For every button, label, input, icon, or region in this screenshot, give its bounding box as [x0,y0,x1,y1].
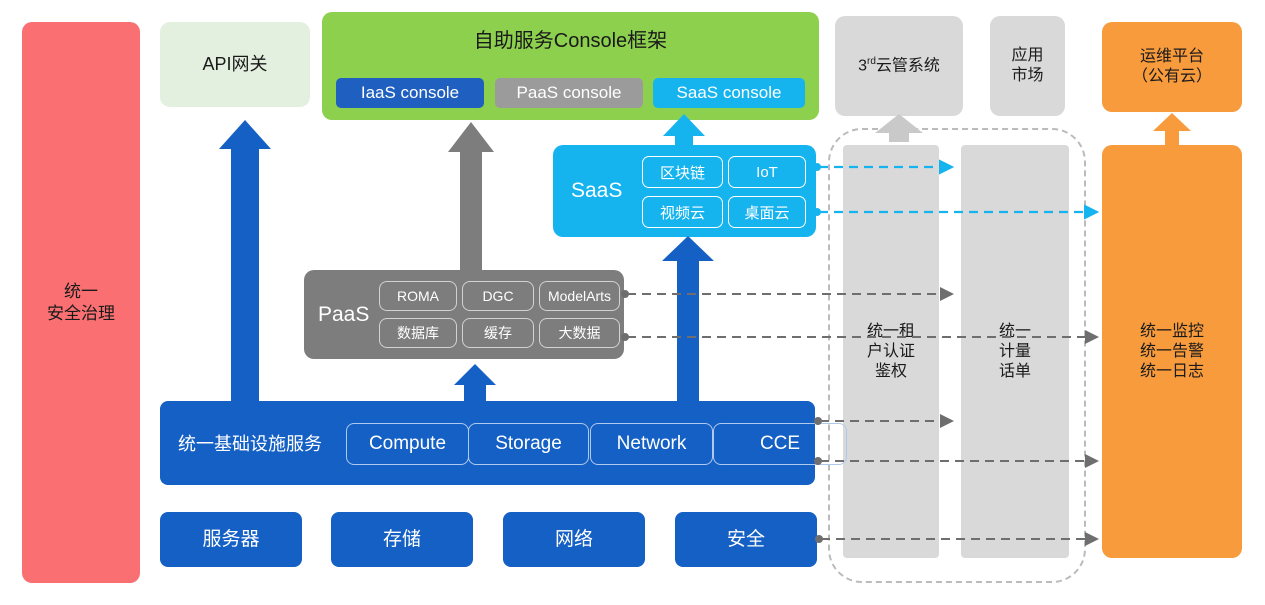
infra-chip-network[interactable]: Network [590,423,713,465]
saas-chip-blockchain-label: 区块链 [660,162,705,183]
hardware-box-security[interactable]: 安全 [675,512,817,567]
arrow-ops-side-to-ops-top [1151,112,1193,145]
hardware-box-storage[interactable]: 存储 [331,512,473,567]
api-gateway-label: API网关 [202,53,267,76]
third-party-cloud-management-box[interactable]: 3rd云管系统 [835,16,963,116]
paas-chip-bigdata[interactable]: 大数据 [539,318,620,348]
unified-tenant-auth-line3: 鉴权 [875,362,907,382]
iaas-console-chip[interactable]: IaaS console [336,78,484,108]
infra-chip-network-label: Network [617,433,687,455]
app-market-line2: 市场 [1011,66,1043,86]
unified-metering-line1: 统一 [999,322,1031,342]
saas-chip-desktop-cloud-label: 桌面云 [744,202,789,223]
paas-console-chip[interactable]: PaaS console [495,78,643,108]
ops-platform-line2: （公有云） [1132,67,1212,87]
paas-chip-cache[interactable]: 缓存 [462,318,534,348]
paas-chip-dgc-label: DGC [482,288,513,304]
paas-layer-label: PaaS [318,303,369,327]
iaas-console-label: IaaS console [361,83,459,103]
unified-infrastructure-label: 统一基础设施服务 [178,430,322,456]
paas-chip-database[interactable]: 数据库 [379,318,457,348]
unified-monitoring-panel: 统一监控 统一告警 统一日志 [1102,145,1242,558]
saas-chip-iot-label: IoT [756,164,778,181]
third-party-prefix: 3 [858,57,867,74]
infra-chip-compute[interactable]: Compute [346,423,469,465]
infra-chip-cce[interactable]: CCE [713,423,847,465]
paas-chip-roma[interactable]: ROMA [379,281,457,311]
paas-chip-cache-label: 缓存 [484,323,512,343]
ops-platform-public-cloud-box[interactable]: 运维平台 （公有云） [1102,22,1242,112]
infra-chip-compute-label: Compute [369,433,446,455]
saas-layer-panel: SaaS 区块链 IoT 视频云 桌面云 [553,145,816,237]
paas-chip-modelarts-label: ModelArts [548,288,611,304]
hardware-box-network[interactable]: 网络 [503,512,645,567]
arrow-infra-to-paas [454,364,496,401]
saas-chip-desktop-cloud[interactable]: 桌面云 [728,196,806,228]
paas-chip-bigdata-label: 大数据 [559,323,601,343]
unified-monitoring-label: 统一监控 [1140,322,1204,342]
infra-chip-storage-label: Storage [495,433,562,455]
paas-chip-roma-label: ROMA [397,288,439,304]
unified-tenant-auth-line2: 户认证 [867,342,915,362]
hardware-box-security-label: 安全 [727,528,765,552]
app-market-line1: 应用 [1011,46,1043,66]
app-market-box[interactable]: 应用 市场 [990,16,1065,116]
saas-console-label: SaaS console [677,83,782,103]
ops-platform-line1: 运维平台 [1140,47,1204,67]
third-party-cloud-management-label: 3rd云管系统 [858,56,940,76]
arrow-infra-to-api-gateway [219,120,271,401]
security-governance-line1: 统一 [64,281,98,302]
unified-metering-line2: 计量 [999,342,1031,362]
unified-tenant-auth-line1: 统一租 [867,322,915,342]
architecture-diagram: 统一 安全治理 API网关 自助服务Console框架 IaaS console… [0,0,1265,605]
unified-metering-line3: 话单 [999,362,1031,382]
third-party-superscript: rd [867,56,876,67]
unified-metering-billing-column: 统一 计量 话单 [961,145,1069,558]
hardware-box-server[interactable]: 服务器 [160,512,302,567]
saas-chip-video-cloud-label: 视频云 [660,202,705,223]
paas-chip-modelarts[interactable]: ModelArts [539,281,620,311]
unified-log-label: 统一日志 [1140,362,1204,382]
hardware-box-network-label: 网络 [555,528,593,552]
unified-tenant-auth-column: 统一租 户认证 鉴权 [843,145,939,558]
arrow-infra-to-saas [662,236,714,401]
console-framework-title: 自助服务Console框架 [322,24,819,53]
unified-alarm-label: 统一告警 [1140,342,1204,362]
infra-chip-cce-label: CCE [760,433,800,455]
paas-chip-dgc[interactable]: DGC [462,281,534,311]
third-party-suffix: 云管系统 [876,57,940,74]
paas-chip-database-label: 数据库 [397,323,439,343]
unified-infrastructure-service-panel: 统一基础设施服务 Compute Storage Network CCE [160,401,815,485]
security-governance-panel: 统一 安全治理 [22,22,140,583]
hardware-box-storage-label: 存储 [383,528,421,552]
saas-chip-iot[interactable]: IoT [728,156,806,188]
console-framework-panel: 自助服务Console框架 IaaS console PaaS console … [322,12,819,120]
api-gateway-box[interactable]: API网关 [160,22,310,107]
saas-layer-label: SaaS [571,179,622,203]
saas-chip-video-cloud[interactable]: 视频云 [642,196,723,228]
arrow-paas-to-console [448,122,494,270]
saas-console-chip[interactable]: SaaS console [653,78,805,108]
paas-console-label: PaaS console [517,83,622,103]
infra-chip-storage[interactable]: Storage [468,423,589,465]
security-governance-line2: 安全治理 [47,303,115,324]
saas-chip-blockchain[interactable]: 区块链 [642,156,723,188]
paas-layer-panel: PaaS ROMA DGC ModelArts 数据库 缓存 大数据 [304,270,624,359]
hardware-box-server-label: 服务器 [202,528,259,552]
